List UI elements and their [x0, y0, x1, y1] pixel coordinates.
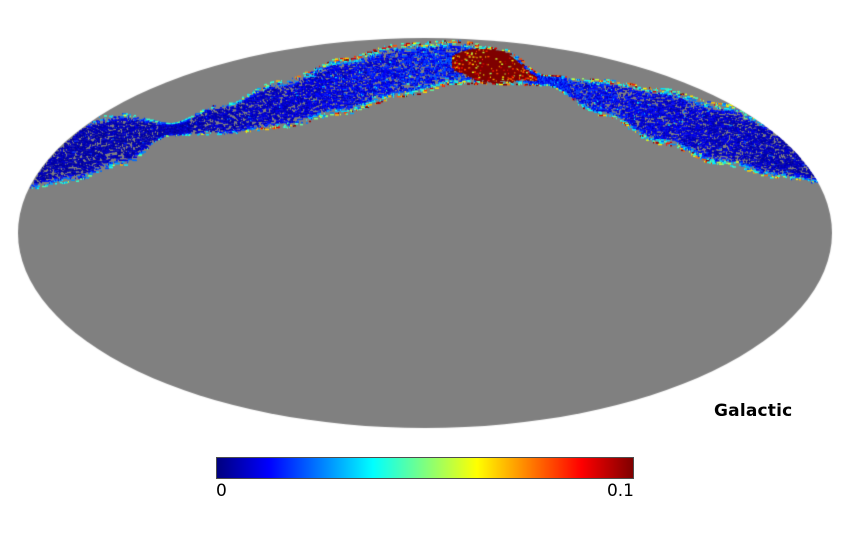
coordinate-system-label: Galactic [714, 401, 792, 421]
sky-map-figure: I Stokes Galactic 0 0.1 [0, 0, 850, 540]
colorbar-gradient [216, 457, 634, 479]
colorbar-max-label: 0.1 [607, 481, 634, 501]
colorbar-min-label: 0 [216, 481, 227, 501]
colorbar [216, 457, 634, 479]
